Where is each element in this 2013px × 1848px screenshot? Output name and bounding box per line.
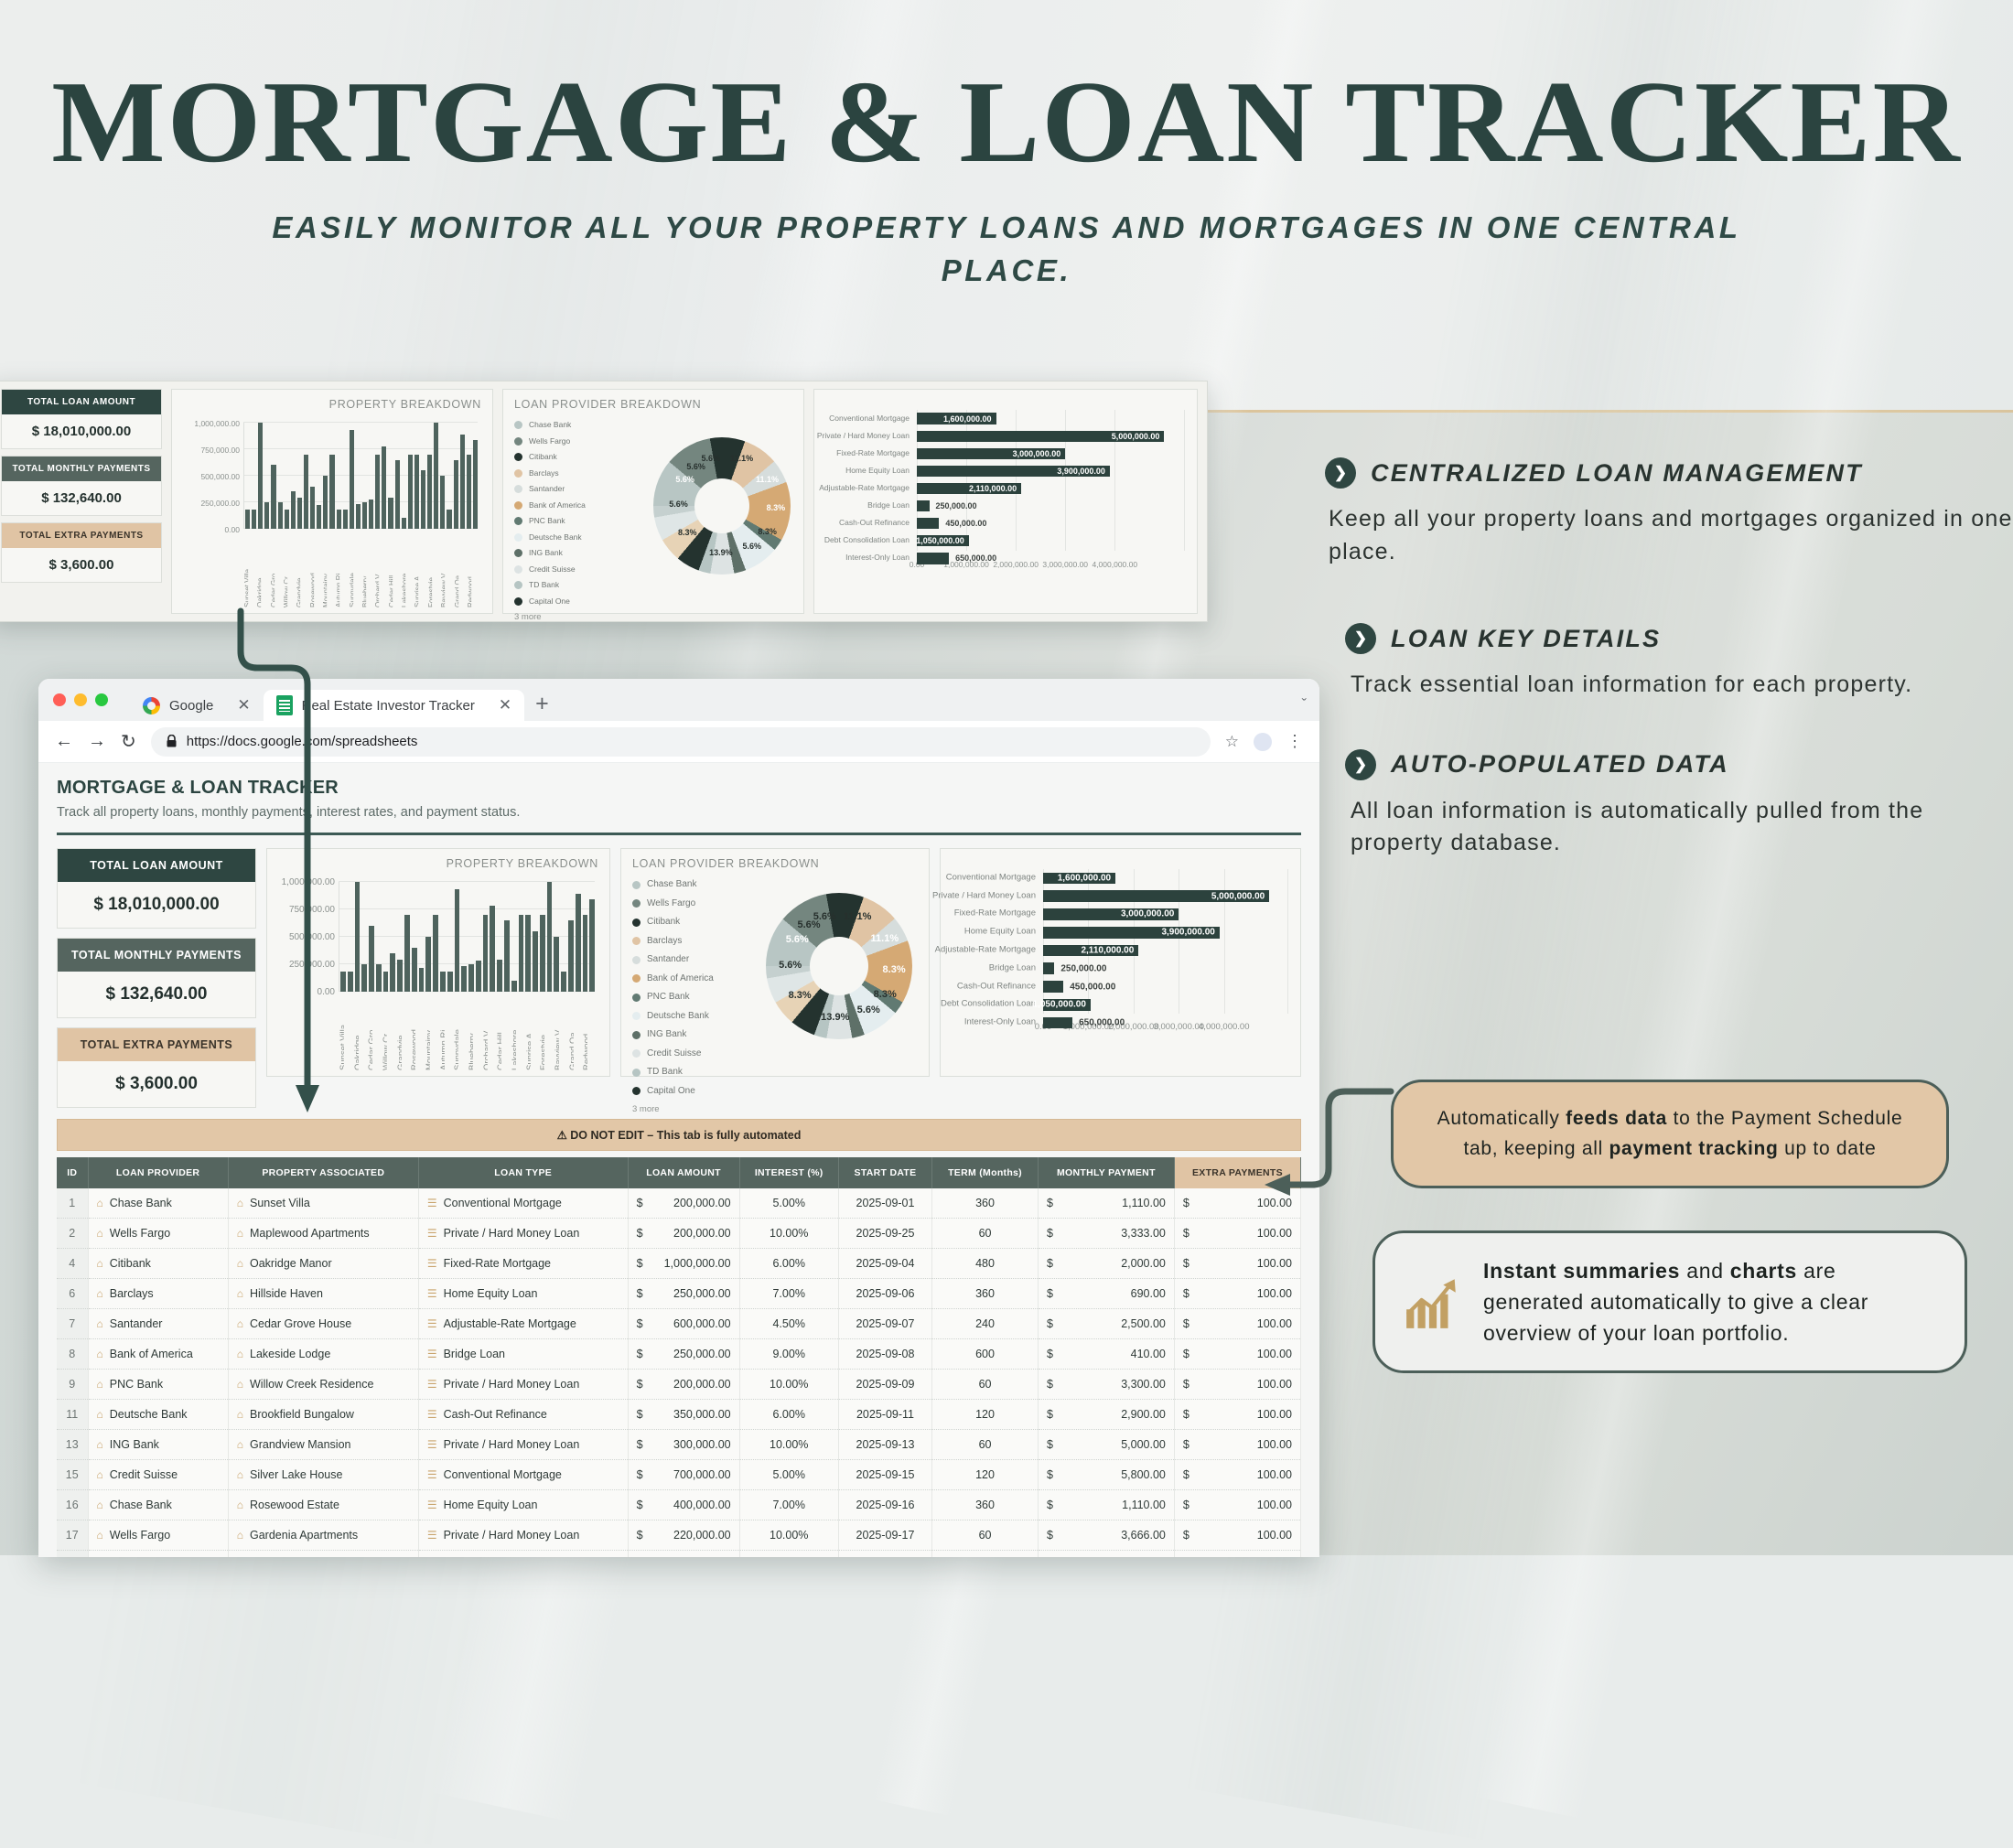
- table-cell: 480: [932, 1249, 1039, 1279]
- cell-text: 60: [979, 1227, 992, 1240]
- feature-body: All loan information is automatically pu…: [1351, 795, 2013, 860]
- legend-label: Santander: [529, 485, 565, 493]
- legend-item: Barclays: [514, 469, 586, 478]
- close-icon[interactable]: ✕: [499, 696, 511, 714]
- legend-swatch: [632, 881, 640, 889]
- table-cell: 2025-09-16: [838, 1490, 931, 1520]
- table-header-cell[interactable]: MONTHLY PAYMENT: [1038, 1157, 1174, 1188]
- category-label: Interest-Only Loan: [745, 554, 910, 564]
- kpi-label: TOTAL EXTRA PAYMENTS: [58, 1028, 255, 1061]
- category-label: Home Equity Loan: [871, 928, 1036, 938]
- bar: [317, 505, 321, 529]
- building-icon: ⌂: [237, 1499, 243, 1511]
- bar: [1043, 981, 1063, 993]
- value-label: 650,000.00: [955, 553, 996, 563]
- building-icon: ⌂: [237, 1408, 243, 1421]
- value-label: 5,000,000.00: [1112, 432, 1160, 441]
- table-row[interactable]: 16⌂Chase Bank⌂Rosewood Estate☰Home Equit…: [57, 1490, 1301, 1520]
- building-icon: ⌂: [97, 1529, 103, 1542]
- x-tick-label: Sunset Villa: [243, 531, 248, 607]
- currency-symbol: $: [637, 1378, 643, 1391]
- y-tick-label: 1,000,000.00: [269, 877, 335, 887]
- legend-swatch: [514, 485, 522, 493]
- legend-label: Bank of America: [647, 974, 714, 983]
- table-row[interactable]: 8⌂Bank of America⌂Lakeside Lodge☰Bridge …: [57, 1339, 1301, 1370]
- list-icon: ☰: [427, 1257, 437, 1270]
- x-tick-label: Blueberry...: [468, 994, 473, 1070]
- table-cell: 2025-09-07: [838, 1309, 931, 1339]
- kpi-column: TOTAL LOAN AMOUNT $ 18,010,000.00 TOTAL …: [57, 848, 256, 1108]
- address-bar[interactable]: https://docs.google.com/spreadsheets: [151, 727, 1211, 757]
- slice-label: 5.6%: [675, 475, 694, 484]
- currency-symbol: $: [637, 1468, 643, 1481]
- table-cell: 18: [57, 1551, 88, 1558]
- table-cell: $200,000.00: [628, 1188, 739, 1219]
- callout-text-b: and: [1680, 1259, 1730, 1283]
- browser-url-bar: ← → ↻ https://docs.google.com/spreadshee…: [38, 721, 1319, 763]
- currency-symbol: $: [1183, 1348, 1189, 1360]
- bar: [350, 430, 354, 529]
- cell-text: 350,000.00: [673, 1408, 731, 1421]
- cell-text: 2: [69, 1227, 75, 1240]
- x-tick-label: [382, 531, 386, 607]
- table-cell: ☰Private / Hard Money Loan: [418, 1430, 628, 1460]
- building-icon: ⌂: [97, 1348, 103, 1360]
- table-cell: $600,000.00: [628, 1309, 739, 1339]
- cell-text: 10.00%: [770, 1529, 808, 1542]
- kpi-value: $ 3,600.00: [2, 548, 161, 582]
- cell-text: 2025-09-11: [856, 1408, 914, 1421]
- tab-google[interactable]: Google ✕: [130, 690, 264, 721]
- table-cell: $100.00: [1174, 1460, 1300, 1490]
- callout-text-d: payment tracking: [1609, 1138, 1778, 1159]
- x-tick-label: Grandvie...: [396, 994, 402, 1070]
- x-tick-label: Redwood...: [467, 531, 471, 607]
- x-tick-label: Orchard V...: [374, 531, 379, 607]
- table-cell: $100.00: [1174, 1339, 1300, 1370]
- table-header-cell[interactable]: LOAN AMOUNT: [628, 1157, 739, 1188]
- x-tick-label: Grandvie...: [296, 531, 300, 607]
- list-icon: ☰: [427, 1348, 437, 1360]
- cell-text: 10.00%: [770, 1438, 808, 1451]
- kpi-value: $ 132,640.00: [58, 972, 255, 1017]
- table-cell: $100.00: [1174, 1309, 1300, 1339]
- bookmark-star-icon[interactable]: ☆: [1225, 733, 1239, 751]
- bar: [304, 455, 308, 529]
- table-cell: ☰Private / Hard Money Loan: [418, 1520, 628, 1551]
- table-cell: $3,666.00: [1038, 1520, 1174, 1551]
- table-cell: $3,300.00: [1038, 1370, 1174, 1400]
- currency-symbol: $: [637, 1499, 643, 1511]
- category-label: Cash-Out Refinance: [871, 982, 1036, 992]
- currency-symbol: $: [1183, 1468, 1189, 1481]
- table-cell: 6.00%: [739, 1400, 838, 1430]
- category-label: Conventional Mortgage: [871, 874, 1036, 884]
- table-cell: ⌂Bank of America: [88, 1339, 228, 1370]
- category-label: Fixed-Rate Mortgage: [745, 449, 910, 458]
- table-cell: $410.00: [1038, 1339, 1174, 1370]
- cell-text: 1,110.00: [1122, 1197, 1166, 1209]
- table-cell: ⌂Rosewood Estate: [228, 1490, 418, 1520]
- x-tick-label: [342, 531, 347, 607]
- table-cell: 7: [57, 1309, 88, 1339]
- table-cell: 360: [932, 1551, 1039, 1558]
- cell-text: 100.00: [1257, 1438, 1292, 1451]
- table-cell: $220,000.00: [628, 1520, 739, 1551]
- table-cell: 360: [932, 1188, 1039, 1219]
- legend-item: Credit Suisse: [514, 565, 586, 574]
- cell-text: Hillside Haven: [250, 1287, 323, 1300]
- slice-label: 8.3%: [789, 990, 812, 1001]
- legend-label: Credit Suisse: [647, 1049, 701, 1058]
- cell-text: 60: [979, 1529, 992, 1542]
- table-cell: ⌂Grandview Mansion: [228, 1430, 418, 1460]
- legend-swatch: [514, 501, 522, 510]
- cell-text: 4: [69, 1257, 75, 1270]
- cell-text: 2025-09-01: [856, 1197, 915, 1209]
- cell-text: Private / Hard Money Loan: [444, 1438, 580, 1451]
- cell-text: Adjustable-Rate Mortgage: [444, 1317, 576, 1330]
- legend-swatch: [632, 899, 640, 908]
- category-label: Debt Consolidation Loan: [745, 537, 910, 546]
- x-tick-label: [403, 994, 408, 1070]
- table-cell: ⌂Wells Fargo: [88, 1520, 228, 1551]
- list-icon: ☰: [427, 1408, 437, 1421]
- table-header-cell[interactable]: EXTRA PAYMENTS: [1174, 1157, 1300, 1188]
- table-cell: 120: [932, 1460, 1039, 1490]
- bar: [917, 553, 949, 564]
- legend-label: Bank of America: [529, 501, 586, 510]
- bar: [271, 465, 275, 529]
- x-tick-label: [328, 531, 333, 607]
- legend-swatch: [632, 994, 640, 1002]
- table-row[interactable]: 11⌂Deutsche Bank⌂Brookfield Bungalow☰Cas…: [57, 1400, 1301, 1430]
- slice-label: 11.1%: [844, 911, 872, 922]
- x-tick-label: [503, 994, 509, 1070]
- cell-text: Oakridge Manor: [250, 1257, 332, 1270]
- cell-text: Conventional Mortgage: [444, 1468, 562, 1481]
- bar: [476, 961, 481, 992]
- property-breakdown-chart: PROPERTY BREAKDOWN 0.00250,000.00500,000…: [266, 848, 610, 1077]
- y-tick-label: 250,000.00: [174, 499, 240, 508]
- legend-label: PNC Bank: [647, 993, 690, 1002]
- list-icon: ☰: [427, 1317, 437, 1330]
- loans-table: IDLOAN PROVIDERPROPERTY ASSOCIATEDLOAN T…: [57, 1157, 1301, 1557]
- cell-text: Bridge Loan: [444, 1348, 505, 1360]
- bar: [554, 937, 559, 992]
- bar: [455, 889, 460, 992]
- bar: [511, 981, 517, 992]
- x-tick-label: [250, 531, 254, 607]
- x-tick-label: Mountainv...: [425, 994, 430, 1070]
- x-tick-label: Grand Oa...: [568, 994, 574, 1070]
- bar: [483, 915, 489, 992]
- table-cell: ☰Bridge Loan: [418, 1339, 628, 1370]
- table-row[interactable]: 15⌂Credit Suisse⌂Silver Lake House☰Conve…: [57, 1460, 1301, 1490]
- legend-item: Chase Bank: [514, 421, 586, 429]
- cell-text: Grandview Mansion: [250, 1438, 350, 1451]
- table-cell: ⌂Lakeside Lodge: [228, 1339, 418, 1370]
- table-cell: ⌂Barclays: [88, 1279, 228, 1309]
- feature-heading: LOAN KEY DETAILS: [1391, 625, 1661, 653]
- cell-text: 250,000.00: [673, 1348, 731, 1360]
- cell-text: Fixed-Rate Mortgage: [444, 1257, 551, 1270]
- category-label: Adjustable-Rate Mortgage: [871, 946, 1036, 956]
- reload-button[interactable]: ↻: [121, 730, 136, 753]
- table-header-cell[interactable]: LOAN PROVIDER: [88, 1157, 228, 1188]
- table-header-cell[interactable]: ID: [57, 1157, 88, 1188]
- cell-text: Rosewood Estate: [250, 1499, 339, 1511]
- hbar-row: Debt Consolidation Loan1,050,000.00: [1043, 999, 1091, 1011]
- window-controls[interactable]: [53, 679, 108, 721]
- value-label: 3,900,000.00: [1161, 928, 1214, 938]
- bar: [408, 455, 413, 529]
- feature-centralized-loan-management: ❯ CENTRALIZED LOAN MANAGEMENT Keep all y…: [1325, 457, 2013, 568]
- bar-series: [340, 882, 595, 992]
- hbar-row: Debt Consolidation Loan1,050,000.00: [917, 535, 969, 546]
- table-cell: $350,000.00: [628, 1400, 739, 1430]
- bar: [568, 920, 574, 992]
- table-header-cell[interactable]: TERM (Months): [932, 1157, 1039, 1188]
- kpi-label: TOTAL EXTRA PAYMENTS: [2, 523, 161, 548]
- table-row[interactable]: 4⌂Citibank⌂Oakridge Manor☰Fixed-Rate Mor…: [57, 1249, 1301, 1279]
- cell-text: 15: [66, 1468, 79, 1481]
- x-tick-label: Oakridge...: [353, 994, 359, 1070]
- table-row[interactable]: 13⌂ING Bank⌂Grandview Mansion☰Private / …: [57, 1430, 1301, 1460]
- table-header-cell[interactable]: START DATE: [838, 1157, 931, 1188]
- legend-label: TD Bank: [529, 581, 559, 589]
- legend-label: Barclays: [529, 469, 559, 478]
- forward-button[interactable]: →: [88, 731, 106, 752]
- value-label: 3,000,000.00: [1013, 449, 1061, 458]
- table-cell: ⌂Citibank: [88, 1249, 228, 1279]
- legend-swatch: [632, 1031, 640, 1039]
- category-label: Conventional Mortgage: [745, 414, 910, 424]
- legend-item: Credit Suisse: [632, 1049, 714, 1058]
- loan-type-chart: 0.001,000,000.002,000,000.003,000,000.00…: [940, 848, 1301, 1077]
- table-cell: ☰Private / Hard Money Loan: [418, 1370, 628, 1400]
- cell-text: 1: [69, 1197, 75, 1209]
- bar: [525, 915, 531, 992]
- table-cell: $1,110.00: [1038, 1188, 1174, 1219]
- table-header-cell[interactable]: INTEREST (%): [739, 1157, 838, 1188]
- list-icon: ☰: [427, 1197, 437, 1209]
- bar: [414, 455, 419, 529]
- cell-text: 2025-09-25: [856, 1227, 915, 1240]
- cell-text: 100.00: [1257, 1408, 1292, 1421]
- table-cell: $250,000.00: [628, 1279, 739, 1309]
- bar: [504, 920, 510, 992]
- kebab-menu-icon[interactable]: ⋮: [1286, 732, 1303, 751]
- callout-text-c: charts: [1730, 1259, 1797, 1283]
- bar: [395, 460, 400, 529]
- x-tick-label: Blueberry...: [361, 531, 366, 607]
- value-label: 2,110,000.00: [1081, 945, 1134, 955]
- building-icon: ⌂: [237, 1348, 243, 1360]
- cell-text: 2,500.00: [1121, 1317, 1166, 1330]
- legend-item: TD Bank: [632, 1068, 714, 1077]
- table-cell: ☰Home Equity Loan: [418, 1490, 628, 1520]
- legend-item: Bank of America: [632, 974, 714, 983]
- table-cell: ⌂PNC Bank: [88, 1370, 228, 1400]
- table-cell: ⌂Sunset Villa: [228, 1188, 418, 1219]
- legend-swatch: [514, 421, 522, 429]
- legend-item: Capital One: [514, 597, 586, 606]
- table-row[interactable]: 18⌂Bank of America⌂Mountainview Chalet☰F…: [57, 1551, 1301, 1558]
- table-row[interactable]: 1⌂Chase Bank⌂Sunset Villa☰Conventional M…: [57, 1188, 1301, 1219]
- bar: [329, 455, 334, 529]
- maximize-window-dot[interactable]: [95, 693, 108, 706]
- legend-swatch: [514, 597, 522, 606]
- donut-plot-area: Chase BankWells FargoCitibankBarclaysSan…: [621, 849, 929, 1076]
- cell-text: 1,000,000.00: [664, 1257, 731, 1270]
- table-cell: 7.00%: [739, 1279, 838, 1309]
- table-row[interactable]: 6⌂Barclays⌂Hillside Haven☰Home Equity Lo…: [57, 1279, 1301, 1309]
- cell-text: 360: [975, 1499, 995, 1511]
- cell-text: 360: [975, 1287, 995, 1300]
- table-cell: 13: [57, 1430, 88, 1460]
- legend-label: Wells Fargo: [647, 899, 695, 908]
- x-tick-label: [589, 994, 595, 1070]
- cell-text: 13: [66, 1438, 79, 1451]
- table-cell: ⌂Maplewood Apartments: [228, 1219, 418, 1249]
- bar: [397, 960, 403, 992]
- table-cell: $5,000.00: [1038, 1430, 1174, 1460]
- currency-symbol: $: [1183, 1408, 1189, 1421]
- table-cell: 10.00%: [739, 1520, 838, 1551]
- bar: [519, 915, 524, 992]
- building-icon: ⌂: [97, 1197, 103, 1209]
- cell-text: Chase Bank: [110, 1197, 172, 1209]
- legend-item: Barclays: [632, 937, 714, 946]
- cell-text: Chase Bank: [110, 1499, 172, 1511]
- currency-symbol: $: [637, 1529, 643, 1542]
- legend-swatch: [514, 581, 522, 589]
- cell-text: 2025-09-17: [856, 1529, 915, 1542]
- cell-text: 200,000.00: [673, 1227, 731, 1240]
- table-cell: 5.00%: [739, 1188, 838, 1219]
- table-header-cell[interactable]: PROPERTY ASSOCIATED: [228, 1157, 418, 1188]
- x-tick-label: Sunrise A...: [414, 531, 418, 607]
- divider: [57, 833, 1301, 835]
- table-cell: ⌂Silver Lake House: [228, 1460, 418, 1490]
- cell-text: Brookfield Bungalow: [250, 1408, 354, 1421]
- bar: [427, 455, 432, 529]
- bar: [467, 455, 471, 529]
- cell-text: 5.00%: [772, 1197, 804, 1209]
- table-header-row: IDLOAN PROVIDERPROPERTY ASSOCIATEDLOAN T…: [57, 1157, 1301, 1188]
- bar: [490, 906, 495, 992]
- x-tick-label: [421, 531, 425, 607]
- table-cell: 10.00%: [739, 1430, 838, 1460]
- close-window-dot[interactable]: [53, 693, 66, 706]
- cell-text: 120: [975, 1408, 995, 1421]
- x-tick-label: [460, 994, 466, 1070]
- table-cell: 2025-09-25: [838, 1219, 931, 1249]
- building-icon: ⌂: [237, 1438, 243, 1451]
- table-header-cell[interactable]: LOAN TYPE: [418, 1157, 628, 1188]
- value-label: 450,000.00: [945, 519, 986, 528]
- cell-text: 9.00%: [772, 1348, 804, 1360]
- tab-real-estate-investor-tracker[interactable]: Real Estate Investor Tracker ✕: [264, 690, 525, 721]
- cell-text: Gardenia Apartments: [250, 1529, 358, 1542]
- slice-label: 5.6%: [686, 462, 705, 471]
- table-row[interactable]: 9⌂PNC Bank⌂Willow Creek Residence☰Privat…: [57, 1370, 1301, 1400]
- cell-text: 2025-09-06: [856, 1287, 915, 1300]
- currency-symbol: $: [1183, 1227, 1189, 1240]
- table-cell: 60: [932, 1520, 1039, 1551]
- table-cell: 2025-09-17: [838, 1520, 931, 1551]
- y-axis: [339, 882, 339, 992]
- cell-text: 9: [69, 1378, 75, 1391]
- currency-symbol: $: [1047, 1438, 1053, 1451]
- table-cell: ☰Fixed-Rate Mortgage: [418, 1249, 628, 1279]
- currency-symbol: $: [1183, 1287, 1189, 1300]
- table-cell: ☰Private / Hard Money Loan: [418, 1219, 628, 1249]
- x-tick-label: Sunnydale...: [349, 531, 353, 607]
- cell-text: 220,000.00: [673, 1529, 731, 1542]
- bar: [412, 948, 417, 992]
- cell-text: 16: [66, 1499, 79, 1511]
- close-icon[interactable]: ✕: [237, 696, 250, 714]
- table-cell: ☰Home Equity Loan: [418, 1279, 628, 1309]
- do-not-edit-banner: ⚠ DO NOT EDIT – This tab is fully automa…: [57, 1119, 1301, 1151]
- table-cell: $1,000,000.00: [628, 1249, 739, 1279]
- bar: [258, 423, 263, 529]
- minimize-window-dot[interactable]: [74, 693, 87, 706]
- preview-property-breakdown-chart: PROPERTY BREAKDOWN 0.00250,000.00500,000…: [171, 389, 493, 614]
- legend-label: PNC Bank: [529, 517, 565, 525]
- avatar[interactable]: [1254, 733, 1272, 751]
- building-icon: ⌂: [237, 1227, 243, 1240]
- table-row[interactable]: 7⌂Santander⌂Cedar Grove House☰Adjustable…: [57, 1309, 1301, 1339]
- new-tab-button[interactable]: +: [535, 691, 549, 721]
- x-tick-label: Oakridge...: [256, 531, 261, 607]
- chevron-down-icon[interactable]: ˇ: [1302, 697, 1307, 721]
- hbar-row: Adjustable-Rate Mortgage2,110,000.00: [1043, 945, 1138, 957]
- back-button[interactable]: ←: [55, 731, 73, 752]
- table-cell: ⌂ING Bank: [88, 1430, 228, 1460]
- cell-text: 7.00%: [772, 1499, 804, 1511]
- table-cell: 60: [932, 1219, 1039, 1249]
- table-cell: 2025-09-08: [838, 1339, 931, 1370]
- bar: [473, 440, 478, 529]
- bar: [362, 502, 367, 529]
- cell-text: Willow Creek Residence: [250, 1378, 373, 1391]
- x-tick-label: Sunset Villa: [339, 994, 344, 1070]
- bar: [547, 882, 553, 992]
- x-tick-label: [289, 531, 294, 607]
- sheet-title: MORTGAGE & LOAN TRACKER: [57, 778, 1301, 799]
- kpi-total-extra-payments: TOTAL EXTRA PAYMENTS $ 3,600.00: [57, 1027, 256, 1108]
- bar: [264, 502, 269, 529]
- bar: [285, 510, 289, 529]
- gridline: [1287, 869, 1288, 1014]
- slice-label: 5.6%: [701, 454, 720, 463]
- legend-swatch: [514, 517, 522, 525]
- legend-item: Santander: [632, 955, 714, 964]
- legend-item: Wells Fargo: [514, 437, 586, 446]
- table-cell: ⌂Chase Bank: [88, 1188, 228, 1219]
- cell-text: Lakeside Lodge: [250, 1348, 330, 1360]
- table-cell: $2,000.00: [1038, 1249, 1174, 1279]
- cell-text: 600: [975, 1348, 995, 1360]
- bar: [434, 423, 438, 529]
- table-row[interactable]: 2⌂Wells Fargo⌂Maplewood Apartments☰Priva…: [57, 1219, 1301, 1249]
- table-row[interactable]: 17⌂Wells Fargo⌂Gardenia Apartments☰Priva…: [57, 1520, 1301, 1551]
- cell-text: 11: [66, 1408, 78, 1421]
- callout-text-e: up to date: [1779, 1138, 1877, 1159]
